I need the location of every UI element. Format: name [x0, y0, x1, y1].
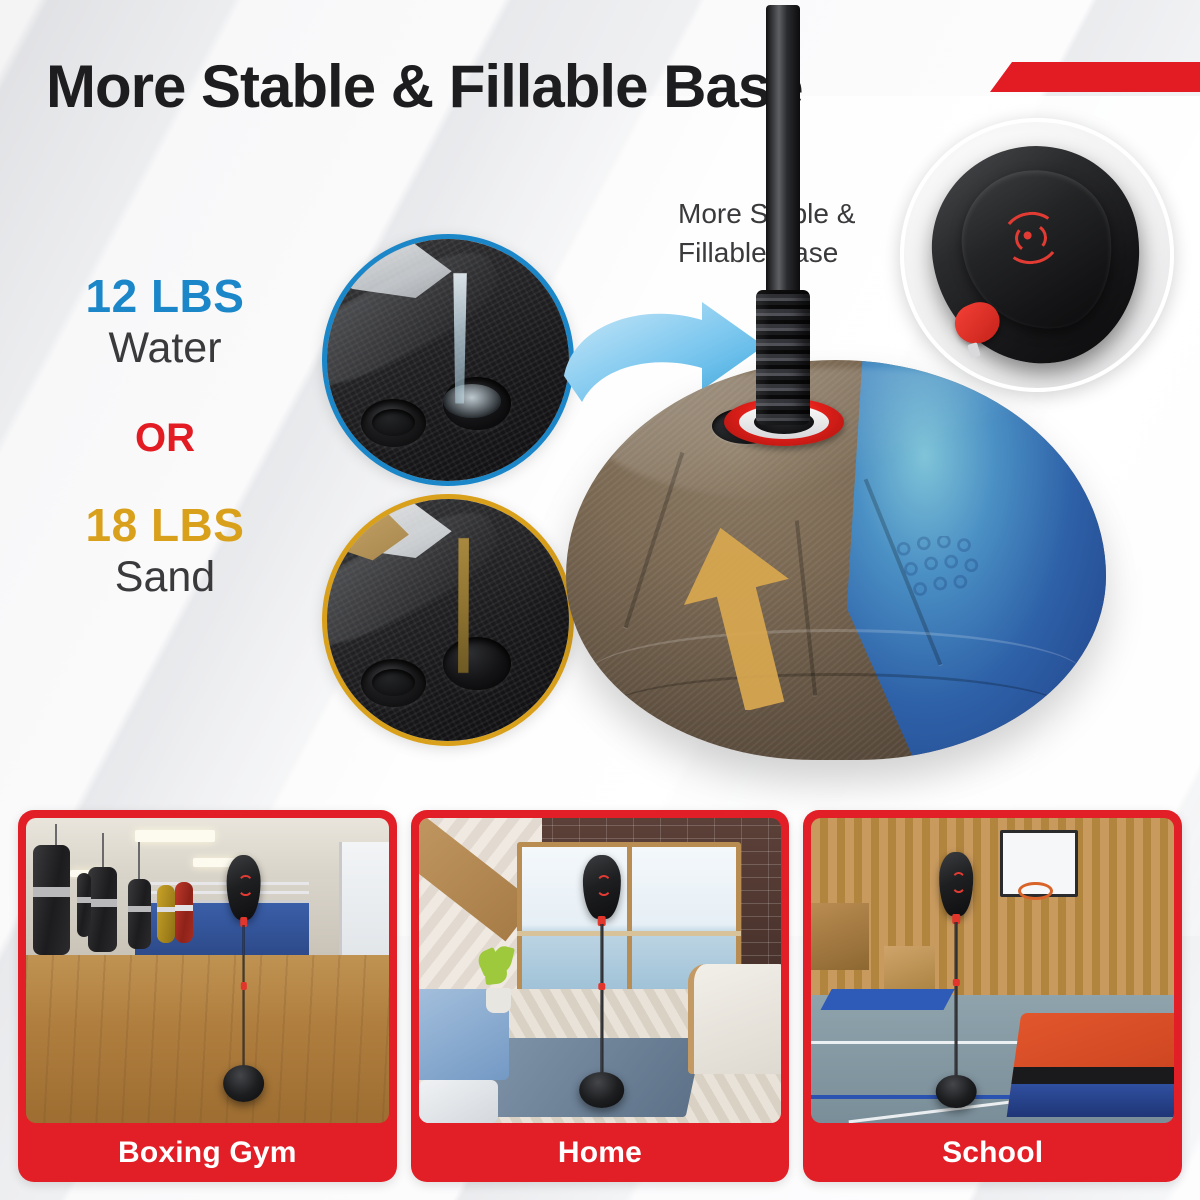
scene-label-school: School	[811, 1123, 1174, 1182]
page-title: More Stable & Fillable Base	[46, 52, 803, 121]
red-accent-bar	[990, 62, 1200, 92]
sand-amount-label: 18 LBS	[0, 501, 330, 549]
water-pour-icon	[327, 239, 569, 481]
scene-home: Home	[411, 810, 790, 1182]
product-in-home	[571, 855, 633, 1111]
sand-pour-inset	[322, 494, 574, 746]
or-separator-label: OR	[0, 416, 330, 461]
scene-boxing-gym: Boxing Gym	[18, 810, 397, 1182]
infographic-page: More Stable & Fillable Base 12 LBS Water…	[0, 0, 1200, 1200]
product-in-school	[927, 852, 985, 1111]
scene-label-home: Home	[419, 1123, 782, 1182]
water-pour-inset	[322, 234, 574, 486]
scene-label-boxing-gym: Boxing Gym	[26, 1123, 389, 1182]
target-icon	[999, 209, 1064, 269]
fillable-base-product	[566, 300, 1106, 800]
fill-spec-column: 12 LBS Water OR 18 LBS Sand	[0, 272, 330, 602]
spring-coil	[756, 290, 810, 425]
grip-dots	[879, 536, 998, 600]
gold-up-arrow-icon	[664, 520, 814, 710]
water-material-label: Water	[0, 324, 330, 373]
product-pole	[766, 5, 800, 315]
sand-pour-icon	[327, 499, 569, 741]
school-photo	[811, 818, 1174, 1123]
product-in-gym	[215, 855, 273, 1105]
scene-school: School	[803, 810, 1182, 1182]
sand-material-label: Sand	[0, 553, 330, 602]
boxing-gym-photo	[26, 818, 389, 1123]
usage-scenes-row: Boxing Gym	[0, 810, 1200, 1182]
gym-mat	[1007, 1013, 1174, 1117]
home-photo	[419, 818, 782, 1123]
water-amount-label: 12 LBS	[0, 272, 330, 320]
potted-plant	[477, 946, 521, 1013]
